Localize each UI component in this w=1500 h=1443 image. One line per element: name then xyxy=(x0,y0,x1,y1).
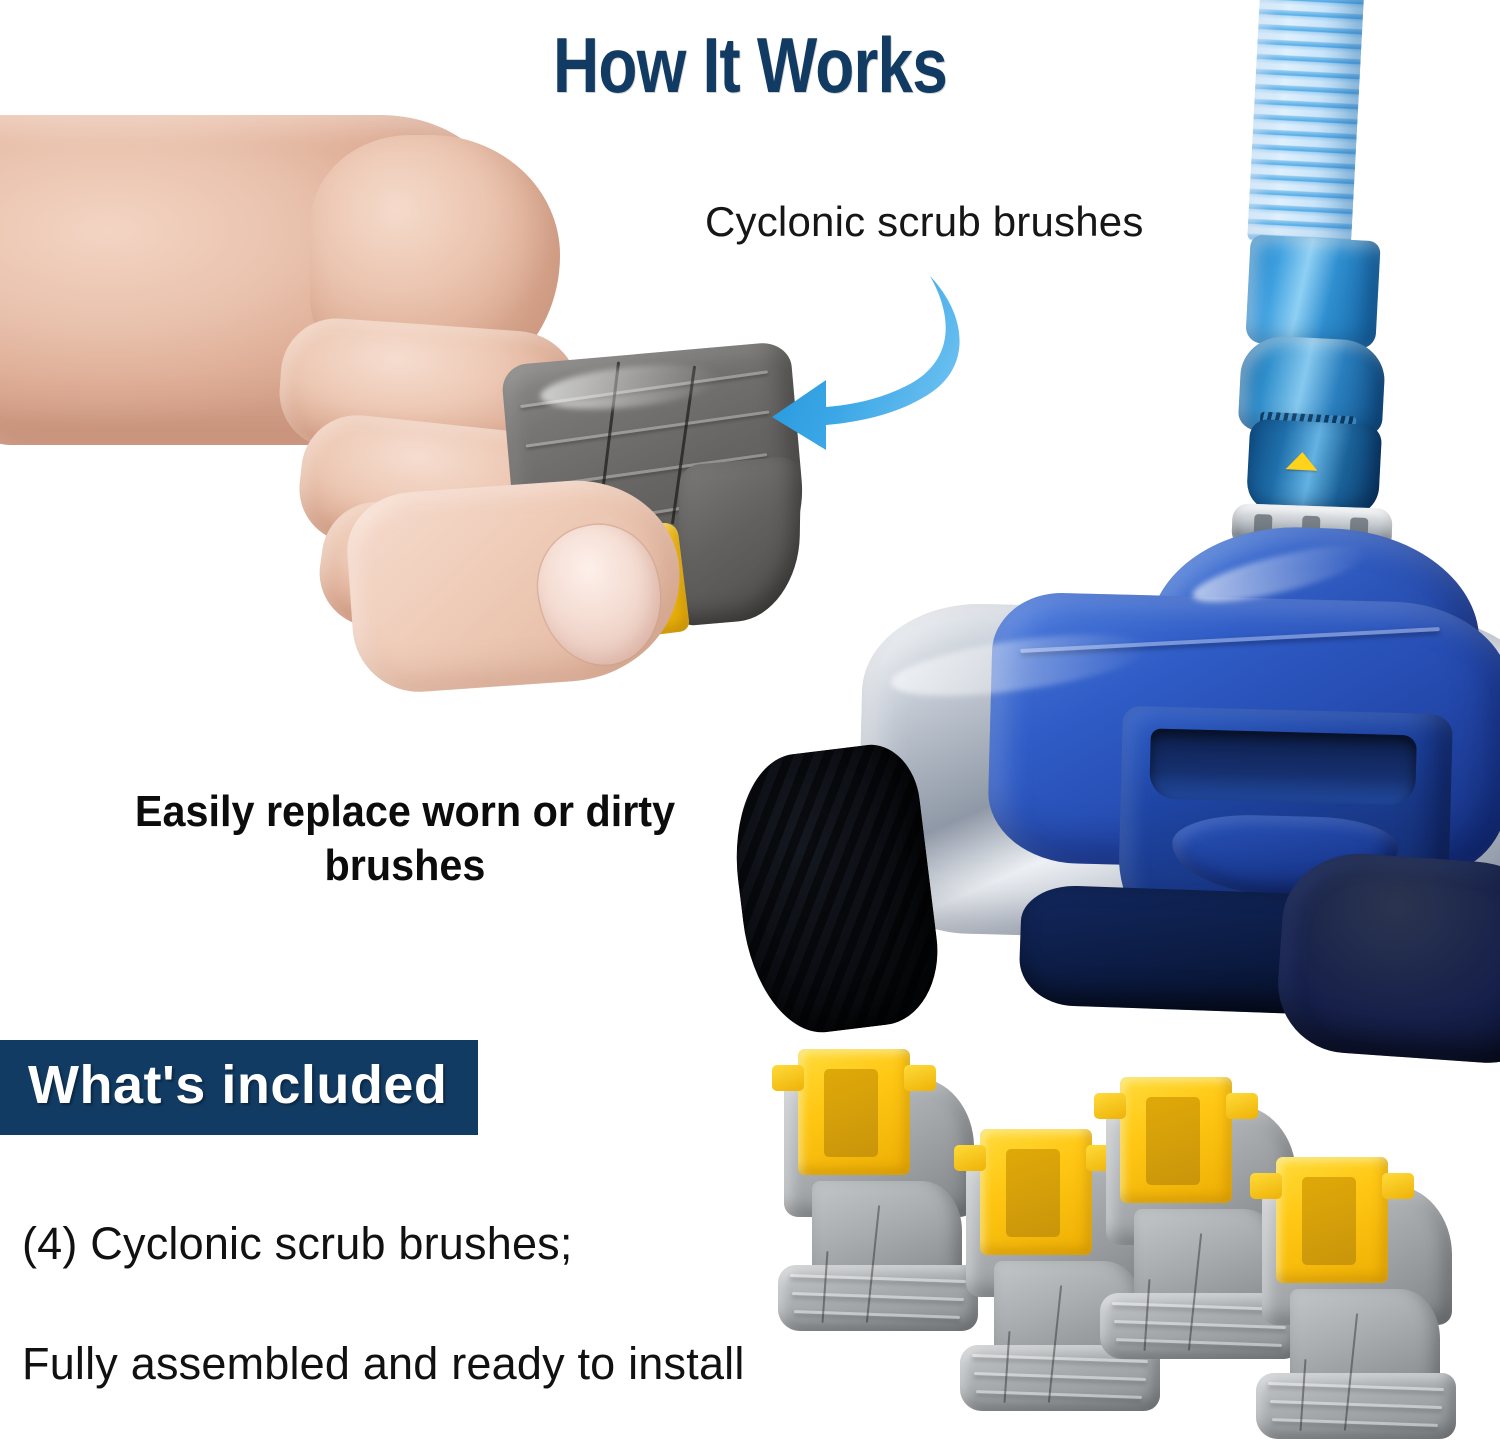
pool-cleaner-product xyxy=(720,0,1500,1070)
ribbed-hose xyxy=(1247,0,1365,247)
swivel-connector-upper xyxy=(1245,235,1380,350)
brush-yellow-clip xyxy=(798,1049,910,1175)
clip-ear-left xyxy=(772,1065,804,1091)
caption-line-2: brushes xyxy=(81,839,730,893)
clip-slot xyxy=(1146,1097,1200,1185)
yellow-arrow-marker-icon xyxy=(1286,451,1319,471)
brush-yellow-clip xyxy=(980,1129,1092,1255)
caption-replace-brushes: Easily replace worn or dirty brushes xyxy=(81,785,730,892)
infographic-canvas: How It Works Cyclonic xyxy=(0,0,1500,1443)
clip-ear-left xyxy=(1250,1173,1282,1199)
clip-ear-left xyxy=(1094,1093,1126,1119)
brush-foot xyxy=(1256,1373,1456,1439)
brush-unit-4 xyxy=(1238,1163,1488,1443)
clip-slot xyxy=(824,1069,878,1157)
cleaner-intake-mouth xyxy=(1149,729,1417,806)
clip-slot xyxy=(1006,1149,1060,1237)
included-item-2: Fully assembled and ready to install xyxy=(22,1338,745,1390)
whats-included-label: What's included xyxy=(28,1054,447,1116)
tire-left xyxy=(724,739,947,1040)
tire-right xyxy=(1273,848,1500,1067)
included-item-1: (4) Cyclonic scrub brushes; xyxy=(22,1218,573,1270)
caption-line-1: Easily replace worn or dirty xyxy=(81,785,730,839)
brush-yellow-clip xyxy=(1276,1157,1388,1283)
clip-ear-right xyxy=(904,1065,936,1091)
clip-ear-right xyxy=(1226,1093,1258,1119)
brush-yellow-clip xyxy=(1120,1077,1232,1203)
clip-ear-right xyxy=(1382,1173,1414,1199)
clip-ear-left xyxy=(954,1145,986,1171)
included-brushes-illustration xyxy=(760,1055,1500,1443)
clip-slot xyxy=(1302,1177,1356,1265)
